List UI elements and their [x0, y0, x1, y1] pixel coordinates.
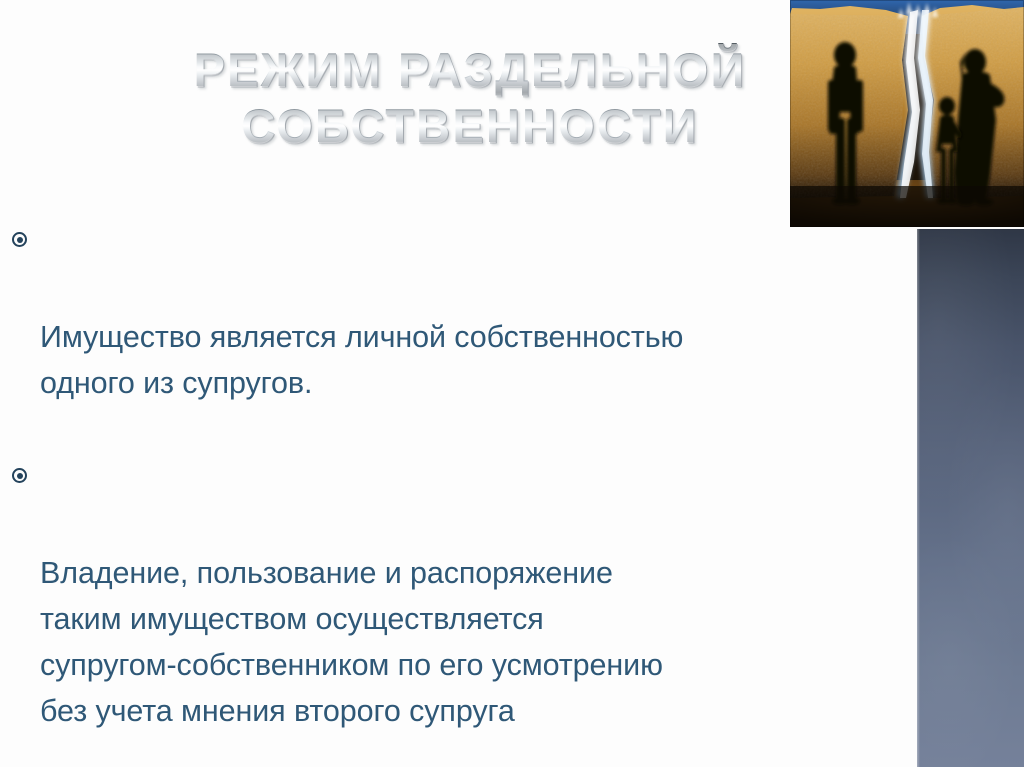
circled-dot-bullet-icon	[12, 232, 27, 247]
page-title: РЕЖИМ РАЗДЕЛЬНОЙ СОБСТВЕННОСТИ	[170, 42, 770, 154]
family-separated-by-torn-wall-photo	[790, 0, 1024, 227]
bullet-list: Имущество является личной собственностью…	[10, 222, 910, 767]
circled-dot-bullet-icon	[12, 468, 27, 483]
slide-canvas: РЕЖИМ РАЗДЕЛЬНОЙ СОБСТВЕННОСТИ Имущество…	[0, 0, 1024, 767]
list-item: Владение, пользование и распоряжение так…	[10, 458, 910, 767]
panel-left-edge-highlight	[917, 229, 920, 767]
right-decorative-panel	[917, 229, 1024, 767]
list-item-text: Имущество является личной собственностью…	[40, 314, 910, 406]
page-title-line-2: СОБСТВЕННОСТИ	[170, 98, 770, 154]
list-item-text: Владение, пользование и распоряжение так…	[40, 550, 910, 734]
page-title-line-1: РЕЖИМ РАЗДЕЛЬНОЙ	[170, 42, 770, 98]
list-item: Имущество является личной собственностью…	[10, 222, 910, 452]
panel-sheen-overlay	[917, 229, 1024, 767]
photo-artwork	[790, 0, 1024, 227]
